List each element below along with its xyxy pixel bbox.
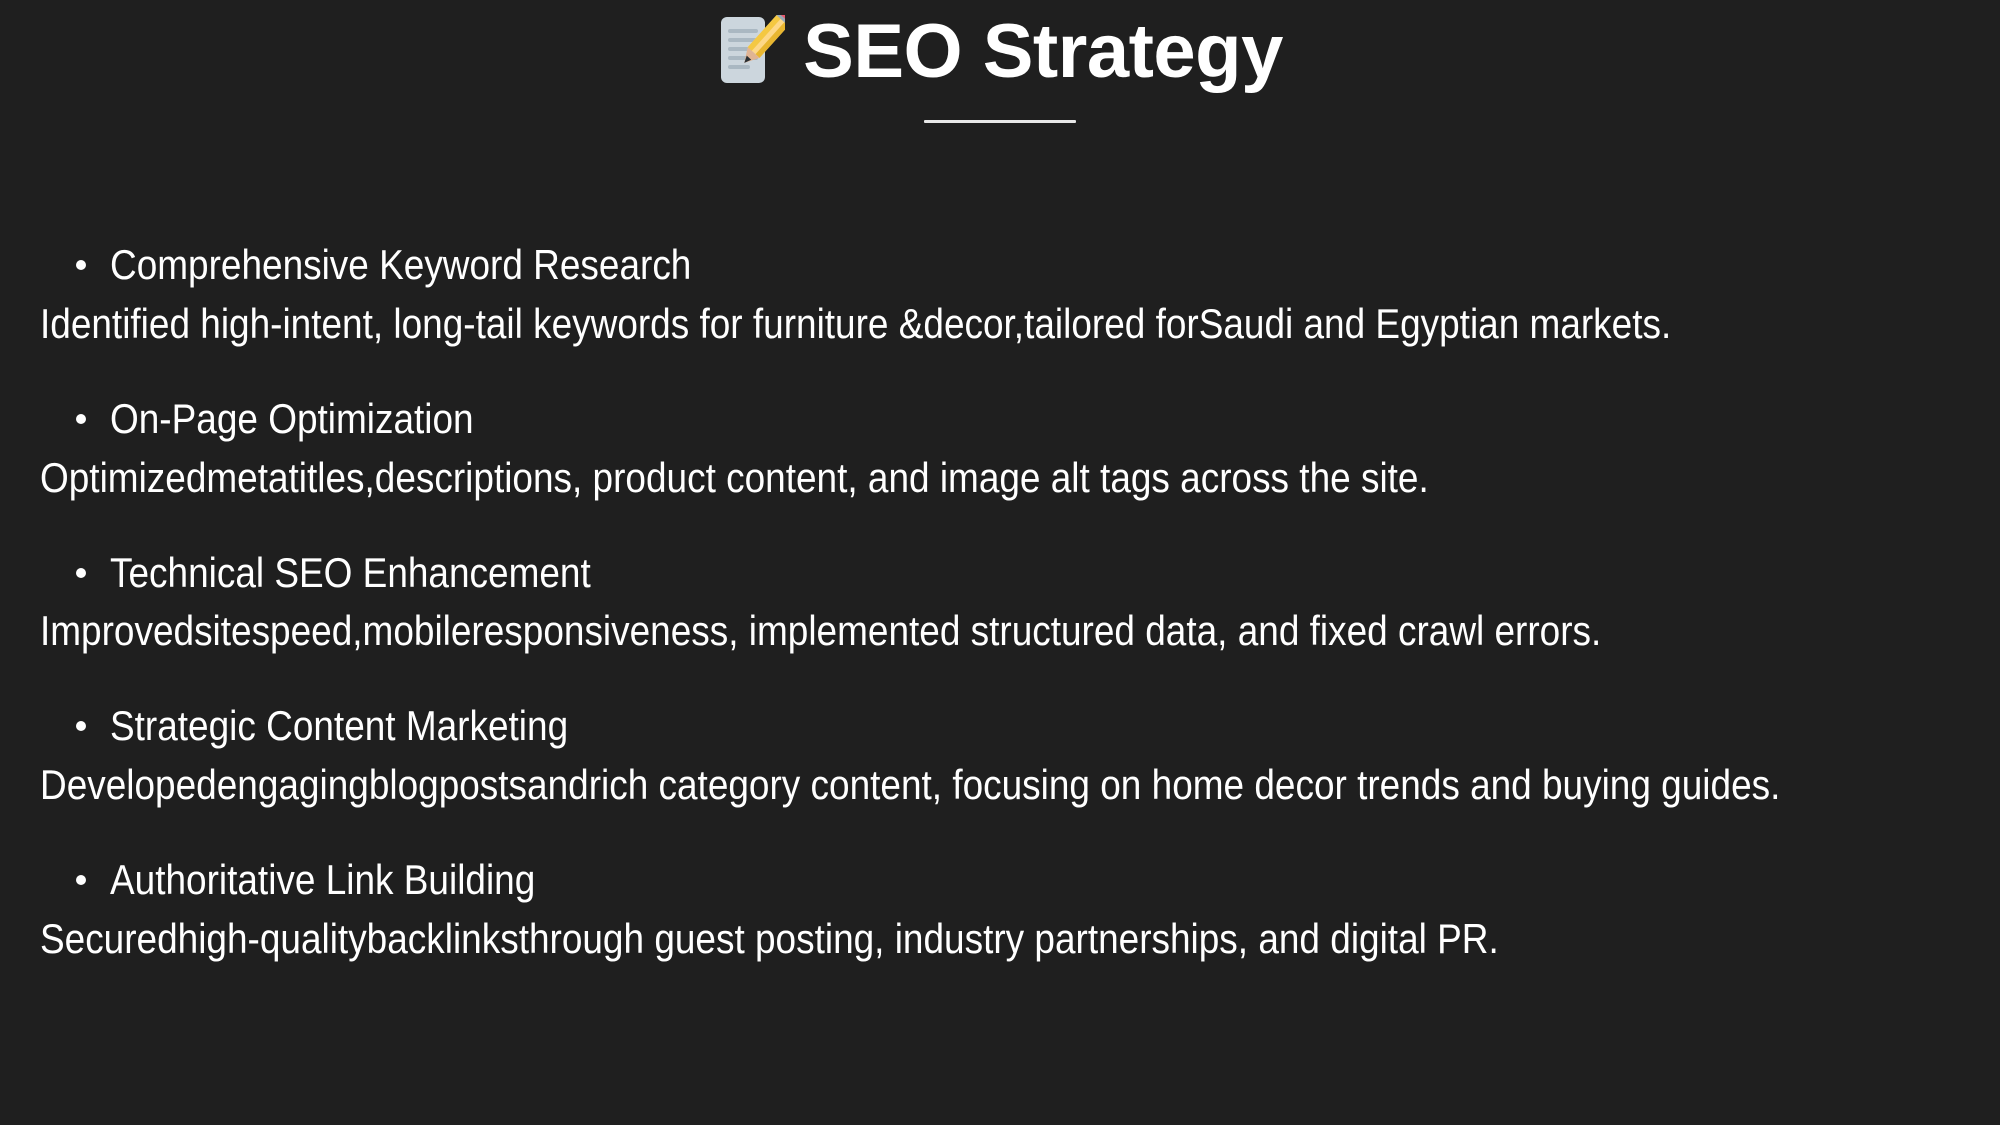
section-heading: Authoritative Link Building	[110, 853, 535, 907]
section-heading: Technical SEO Enhancement	[110, 546, 591, 600]
section-heading: Comprehensive Keyword Research	[110, 238, 691, 292]
bullet-row: Technical SEO Enhancement	[40, 546, 1960, 600]
title-divider	[924, 120, 1076, 123]
bullet-row: Strategic Content Marketing	[40, 699, 1960, 753]
section-technical-seo: Technical SEO Enhancement Improvedsitesp…	[40, 546, 1960, 658]
content-body: Comprehensive Keyword Research Identifie…	[40, 238, 1960, 965]
section-heading: On-Page Optimization	[110, 392, 474, 446]
section-heading: Strategic Content Marketing	[110, 699, 568, 753]
section-on-page-optimization: On-Page Optimization Optimizedmetatitles…	[40, 392, 1960, 504]
section-link-building: Authoritative Link Building Securedhigh-…	[40, 853, 1960, 965]
bullet-row: On-Page Optimization	[40, 392, 1960, 446]
section-content-marketing: Strategic Content Marketing Developedeng…	[40, 699, 1960, 811]
section-description: Identified high-intent, long-tail keywor…	[40, 298, 1959, 350]
bullet-point-icon	[76, 721, 86, 731]
bullet-row: Authoritative Link Building	[40, 853, 1960, 907]
slide-root: SEO Strategy Comprehensive Keyword Resea…	[0, 0, 2000, 1125]
slide-header: SEO Strategy	[0, 0, 2000, 123]
section-keyword-research: Comprehensive Keyword Research Identifie…	[40, 238, 1960, 350]
section-description: Improvedsitespeed,mobileresponsiveness, …	[40, 605, 1959, 657]
title-row: SEO Strategy	[0, 4, 2000, 100]
section-description: Developedengagingblogpostsandrich catego…	[40, 759, 1959, 811]
page-title: SEO Strategy	[803, 14, 1283, 90]
bullet-point-icon	[76, 568, 86, 578]
section-description: Optimizedmetatitles,descriptions, produc…	[40, 452, 1959, 504]
bullet-point-icon	[76, 875, 86, 885]
bullet-point-icon	[76, 260, 86, 270]
bullet-point-icon	[76, 414, 86, 424]
section-description: Securedhigh-qualitybacklinksthrough gues…	[40, 913, 1959, 965]
memo-icon	[717, 15, 785, 89]
bullet-row: Comprehensive Keyword Research	[40, 238, 1960, 292]
